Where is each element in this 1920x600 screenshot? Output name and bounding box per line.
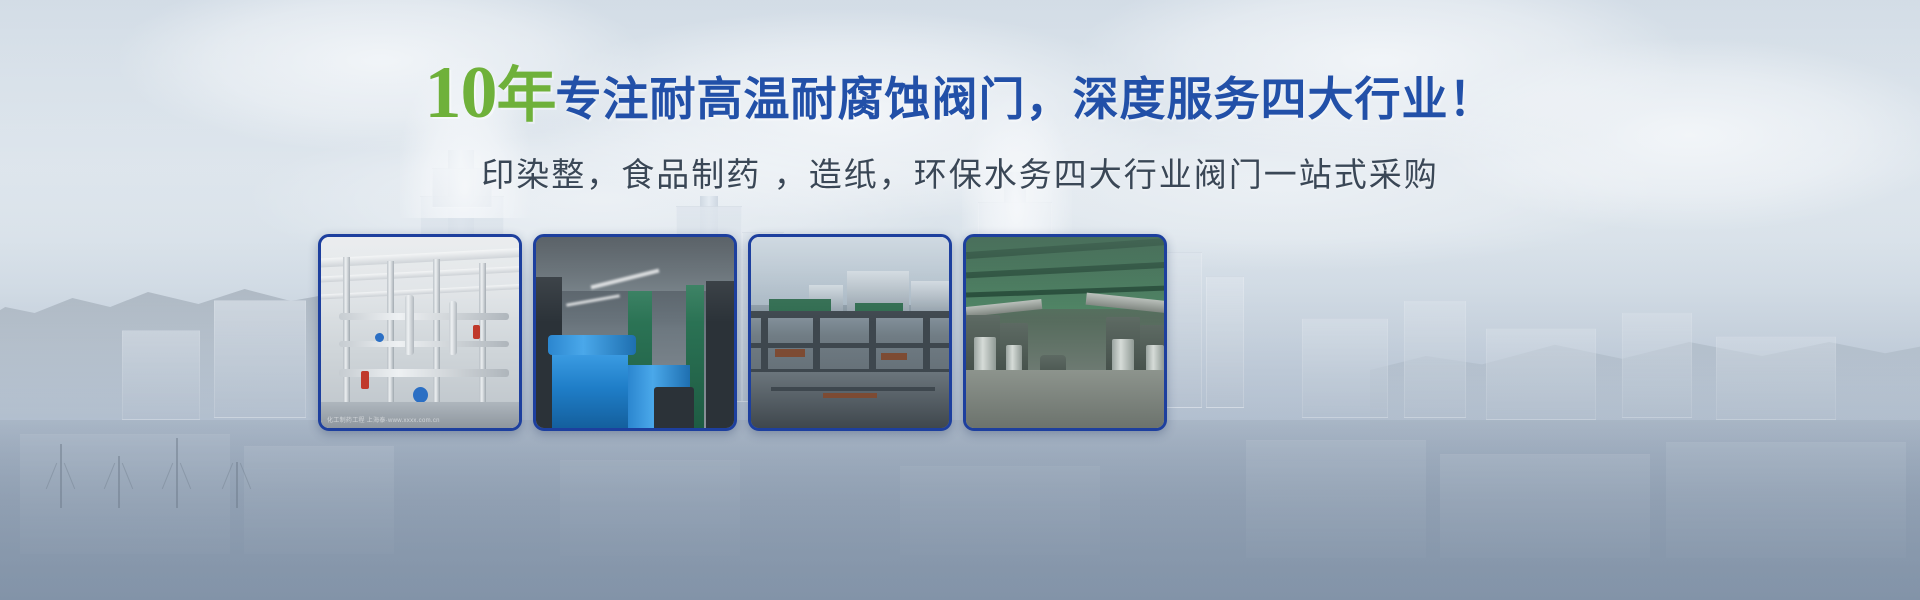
- thumbnail-pharma-piping[interactable]: 化工制药工程 上海泰·www.xxxx.com.cn: [318, 234, 522, 431]
- thumbnail-image: [536, 237, 734, 428]
- thumbnail-image: [751, 237, 949, 428]
- thumbnail-image: [966, 237, 1164, 428]
- background-ground-buildings: [0, 420, 1920, 600]
- thumbnail-watermark: 化工制药工程 上海泰·www.xxxx.com.cn: [327, 415, 440, 424]
- headline-years-number: 10: [425, 52, 497, 134]
- hero-banner: 10年专注耐高温耐腐蚀阀门，深度服务四大行业！ 印染整，食品制药 ，造纸，环保水…: [0, 0, 1920, 600]
- hero-text-block: 10年专注耐高温耐腐蚀阀门，深度服务四大行业！ 印染整，食品制药 ，造纸，环保水…: [0, 56, 1920, 196]
- hero-subheadline: 印染整，食品制药 ，造纸，环保水务四大行业阀门一站式采购: [0, 148, 1920, 196]
- thumbnail-paper-mill[interactable]: [748, 234, 952, 431]
- headline-years-unit: 年: [497, 61, 556, 131]
- thumbnail-image: 化工制药工程 上海泰·www.xxxx.com.cn: [321, 237, 519, 428]
- thumbnail-water-treatment[interactable]: [963, 234, 1167, 431]
- hero-headline: 10年专注耐高温耐腐蚀阀门，深度服务四大行业！: [0, 56, 1920, 130]
- thumbnail-gallery: 化工制药工程 上海泰·www.xxxx.com.cn: [318, 234, 1198, 434]
- thumbnail-textile-dyeing[interactable]: [533, 234, 737, 431]
- headline-main-text: 专注耐高温耐腐蚀阀门，深度服务四大行业！: [556, 72, 1496, 126]
